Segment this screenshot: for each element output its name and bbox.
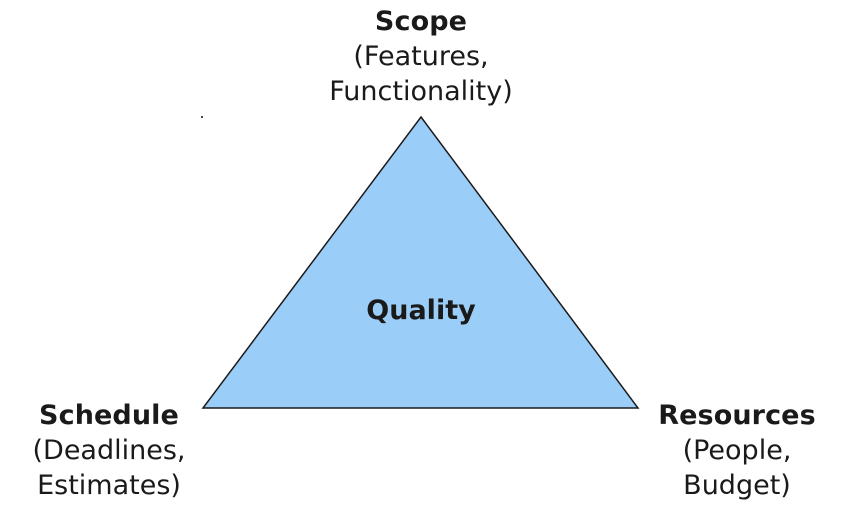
corner-title-schedule: Schedule (33, 398, 186, 433)
corner-subline-resources-2: Budget) (658, 468, 816, 503)
corner-label-scope: Scope (Features, Functionality) (329, 4, 513, 109)
corner-title-resources: Resources (658, 398, 816, 433)
corner-subline-schedule-1: (Deadlines, (33, 433, 186, 468)
corner-label-schedule: Schedule (Deadlines, Estimates) (33, 398, 186, 503)
stray-dot-artifact (201, 116, 203, 118)
corner-subline-scope-1: (Features, (329, 39, 513, 74)
corner-subline-resources-1: (People, (658, 433, 816, 468)
diagram-canvas: Scope (Features, Functionality) Schedule… (0, 0, 842, 511)
triangle-polygon (203, 117, 638, 408)
corner-label-resources: Resources (People, Budget) (658, 398, 816, 503)
center-label-quality: Quality (366, 293, 475, 328)
corner-subline-scope-2: Functionality) (329, 74, 513, 109)
corner-subline-schedule-2: Estimates) (33, 468, 186, 503)
corner-title-scope: Scope (329, 4, 513, 39)
